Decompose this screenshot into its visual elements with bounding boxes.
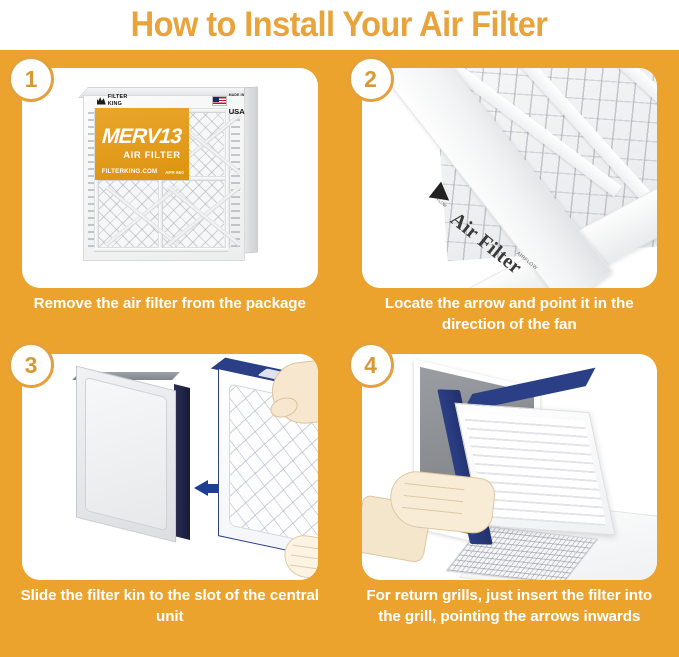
step-card-3: 3: [22, 354, 318, 580]
step-cell-2: FLOW Air Filter AIRFLOW 2 Locate the arr…: [340, 50, 679, 340]
step-card-2: FLOW Air Filter AIRFLOW 2: [362, 68, 658, 288]
us-flag-icon: [212, 96, 227, 106]
step-number-badge-3: 3: [8, 342, 54, 388]
step-number-badge-4: 4: [348, 342, 394, 388]
country-text: USA: [229, 107, 245, 116]
air-filter-product-image: FILTER KING MADE IN: [77, 85, 263, 271]
step-caption-4: For return grills, just insert the filte…: [354, 586, 666, 628]
slide-filter-diagram: [22, 354, 318, 580]
filter-corner-photo: FLOW Air Filter AIRFLOW: [362, 68, 658, 288]
website-text: FILTERKING.COM: [102, 168, 158, 175]
step-number-badge-2: 2: [348, 56, 394, 102]
filter-king-logo-text: FILTER KING: [108, 94, 128, 106]
step-caption-3: Slide the filter kin to the slot of the …: [14, 586, 326, 628]
step-4-illustration: [362, 354, 658, 580]
step-cell-3: 3 Slide the filter kin to the slot of th…: [0, 340, 340, 657]
filter-pleat-ticks-right: [231, 112, 240, 248]
step-caption-2: Locate the arrow and point it in the dir…: [354, 294, 666, 336]
brand-line-2: KING: [108, 101, 122, 107]
central-unit-face: [76, 366, 176, 543]
product-type-text: AIR FILTER: [102, 150, 183, 161]
step-cell-1: FILTER KING MADE IN: [0, 50, 340, 340]
steps-grid: FILTER KING MADE IN: [0, 50, 679, 657]
product-label: MERV13 AIR FILTER FILTERKING.COM APR 650: [95, 108, 189, 180]
step-card-1: FILTER KING MADE IN: [22, 68, 318, 288]
merv-rating-text: MERV13: [101, 125, 184, 149]
apr-rating-text: APR 650: [165, 170, 184, 175]
filter-brand-row: FILTER KING MADE IN: [97, 93, 245, 108]
filter-side-edge: [244, 87, 258, 254]
infographic-page: How to Install Your Air Filter: [0, 0, 679, 657]
filter-king-logo: FILTER KING: [97, 94, 128, 106]
step-cell-4: 4 For return grills, just insert the fil…: [340, 340, 679, 657]
step-caption-1: Remove the air filter from the package: [14, 294, 326, 315]
header: How to Install Your Air Filter: [0, 0, 679, 50]
filter-support-bar-right: [225, 110, 230, 248]
made-in-usa-badge: MADE IN USA: [212, 83, 245, 119]
central-unit-panel: [85, 377, 167, 531]
central-unit-slot: [174, 384, 190, 540]
step-card-4: 4: [362, 354, 658, 580]
step-number-badge-1: 1: [8, 56, 54, 102]
page-title: How to Install Your Air Filter: [131, 5, 548, 45]
step-3-illustration: [22, 354, 318, 580]
made-in-text: MADE IN: [229, 93, 245, 97]
step-2-illustration: FLOW Air Filter AIRFLOW: [362, 68, 658, 288]
step-1-illustration: FILTER KING MADE IN: [22, 68, 318, 288]
return-grill-diagram: [362, 354, 658, 580]
crown-icon: [97, 97, 106, 105]
